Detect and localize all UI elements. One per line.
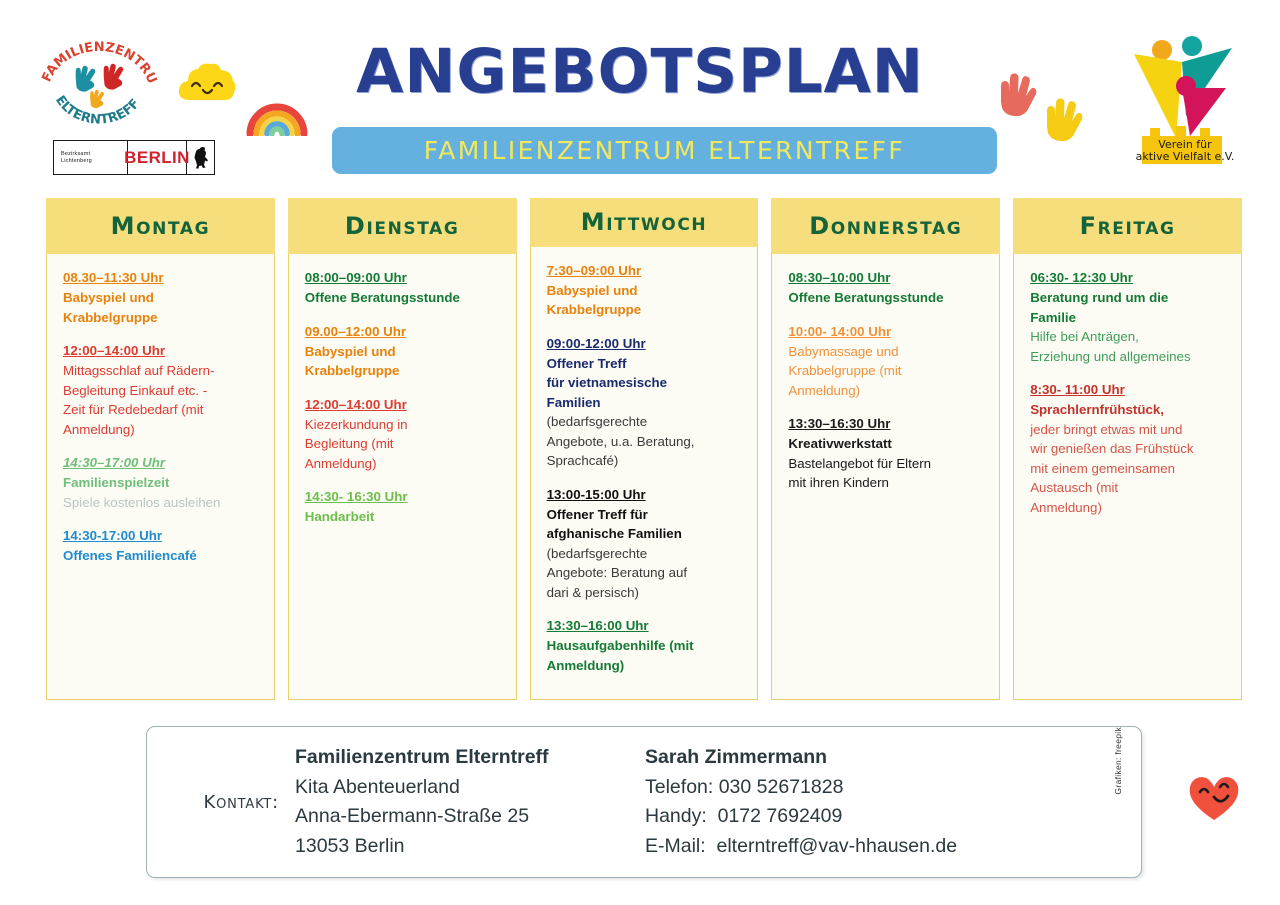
entry-title-line: Offener Treff für xyxy=(547,505,746,525)
schedule-entry: 08:00–09:00 UhrOffene Beratungsstunde xyxy=(305,268,504,308)
entry-time: 14:30- 16:30 Uhr xyxy=(305,487,408,506)
berlin-district-line1: Bezirksamt xyxy=(61,151,127,158)
day-body-mittwoch: 7:30–09:00 UhrBabyspiel undKrabbelgruppe… xyxy=(530,247,759,701)
schedule-entry: 13:30–16:30 UhrKreativwerkstattBastelang… xyxy=(788,414,987,493)
red-hand-icon xyxy=(997,72,1037,123)
day-header-mittwoch: Mittwoch xyxy=(530,198,759,247)
day-name: Dienstag xyxy=(345,212,460,240)
schedule-entry: 7:30–09:00 UhrBabyspiel undKrabbelgruppe xyxy=(547,261,746,320)
entry-title-line: Familienspielzeit xyxy=(63,473,262,493)
contact-address-column: Familienzentrum ElterntreffKita Abenteue… xyxy=(295,743,645,861)
contact-line: E-Mail: elterntreff@vav-hhausen.de xyxy=(645,832,957,862)
entry-title-line: Offene Beratungsstunde xyxy=(788,288,987,308)
entry-title-line: Offenes Familiencafé xyxy=(63,546,262,566)
day-header-montag: Montag xyxy=(46,198,275,254)
entry-time: 09.00–12:00 Uhr xyxy=(305,322,406,341)
entry-detail-line: wir genießen das Frühstück xyxy=(1030,439,1229,459)
schedule-entry: 14:30- 16:30 UhrHandarbeit xyxy=(305,487,504,527)
contact-line: Kita Abenteuerland xyxy=(295,773,645,803)
entry-title-line: für vietnamesische xyxy=(547,373,746,393)
schedule-entry: 12:00–14:00 UhrKiezerkundung inBegleitun… xyxy=(305,395,504,474)
contact-label: Kontakt: xyxy=(147,792,295,813)
page-subtitle-bar: FAMILIENZENTRUM ELTERNTREFF xyxy=(332,127,997,174)
berlin-district-line2: Lichtenberg xyxy=(61,158,127,165)
berlin-district-name: Bezirksamt Lichtenberg xyxy=(54,141,128,174)
berlin-district-badge: Bezirksamt Lichtenberg BERLIN xyxy=(53,140,215,175)
entry-time: 12:00–14:00 Uhr xyxy=(305,395,407,414)
smiling-heart-icon xyxy=(1186,770,1242,827)
entry-title-line: Babyspiel und xyxy=(63,288,262,308)
schedule-entry: 08.30–11:30 UhrBabyspiel undKrabbelgrupp… xyxy=(63,268,262,327)
schedule-entry: 13:30–16:00 UhrHausaufgabenhilfe (mitAnm… xyxy=(547,616,746,675)
entry-time: 14:30-17:00 Uhr xyxy=(63,526,162,545)
schedule-entry: 10:00- 14:00 UhrBabymassage undKrabbelgr… xyxy=(788,322,987,401)
day-header-dienstag: Dienstag xyxy=(288,198,517,254)
entry-detail-line: Begleitung Einkauf etc. - xyxy=(63,381,262,401)
entry-detail-line: Zeit für Redebedarf (mit xyxy=(63,400,262,420)
entry-title-line: Familie xyxy=(1030,308,1229,328)
entry-detail-line: Austausch (mit xyxy=(1030,478,1229,498)
vav-line2: aktive Vielfalt e.V. xyxy=(1136,150,1235,163)
verein-aktive-vielfalt-logo: Verein für aktive Vielfalt e.V. xyxy=(1120,26,1250,171)
day-body-donnerstag: 08:30–10:00 UhrOffene Beratungsstunde10:… xyxy=(771,254,1000,700)
entry-title-line: Familien xyxy=(547,393,746,413)
entry-time: 10:00- 14:00 Uhr xyxy=(788,322,891,341)
entry-detail-line: Anmeldung) xyxy=(63,420,262,440)
entry-time: 06:30- 12:30 Uhr xyxy=(1030,268,1133,287)
day-body-freitag: 06:30- 12:30 UhrBeratung rund um dieFami… xyxy=(1013,254,1242,700)
entry-time: 13:30–16:30 Uhr xyxy=(788,414,890,433)
entry-title-line: Handarbeit xyxy=(305,507,504,527)
entry-detail-line: Spiele kostenlos ausleihen xyxy=(63,493,262,513)
entry-title-line: afghanische Familien xyxy=(547,524,746,544)
page-subtitle: FAMILIENZENTRUM ELTERNTREFF xyxy=(424,136,905,165)
entry-title-line: Krabbelgruppe xyxy=(63,308,262,328)
entry-time: 8:30- 11:00 Uhr xyxy=(1030,380,1125,399)
schedule-entry: 08:30–10:00 UhrOffene Beratungsstunde xyxy=(788,268,987,308)
entry-time: 12:00–14:00 Uhr xyxy=(63,341,165,360)
entry-detail-line: mit ihren Kindern xyxy=(788,473,987,493)
entry-detail-line: (bedarfsgerechte xyxy=(547,412,746,432)
entry-detail-line: Erziehung und allgemeines xyxy=(1030,347,1229,367)
entry-detail-line: Angebote: Beratung auf xyxy=(547,563,746,583)
contact-box: Kontakt: Familienzentrum ElterntreffKita… xyxy=(146,726,1142,878)
contact-line: Anna-Ebermann-Straße 25 xyxy=(295,802,645,832)
entry-detail-line: (bedarfsgerechte xyxy=(547,544,746,564)
entry-detail-line: Bastelangebot für Eltern xyxy=(788,454,987,474)
entry-title-line: Krabbelgruppe xyxy=(547,300,746,320)
entry-detail-line: Babymassage und xyxy=(788,342,987,362)
entry-title-line: Offene Beratungsstunde xyxy=(305,288,504,308)
entry-detail-line: Anmeldung) xyxy=(1030,498,1229,518)
day-column-donnerstag: Donnerstag08:30–10:00 UhrOffene Beratung… xyxy=(771,198,1000,700)
entry-time: 08:00–09:00 Uhr xyxy=(305,268,407,287)
day-body-dienstag: 08:00–09:00 UhrOffene Beratungsstunde09.… xyxy=(288,254,517,700)
day-column-dienstag: Dienstag08:00–09:00 UhrOffene Beratungss… xyxy=(288,198,517,700)
entry-detail-line: Mittagsschlaf auf Rädern- xyxy=(63,361,262,381)
entry-time: 08.30–11:30 Uhr xyxy=(63,268,164,287)
entry-detail-line: Anmeldung) xyxy=(788,381,987,401)
entry-title-line: Offener Treff xyxy=(547,354,746,374)
day-column-mittwoch: Mittwoch7:30–09:00 UhrBabyspiel undKrabb… xyxy=(530,198,759,700)
entry-time: 08:30–10:00 Uhr xyxy=(788,268,890,287)
entry-detail-line: Hilfe bei Anträgen, xyxy=(1030,327,1229,347)
contact-line: Sarah Zimmermann xyxy=(645,743,957,773)
entry-title-line: Babyspiel und xyxy=(547,281,746,301)
yellow-hand-icon xyxy=(1043,97,1083,148)
entry-title-line: Sprachlernfrühstück, xyxy=(1030,400,1229,420)
entry-title-line: Babyspiel und xyxy=(305,342,504,362)
entry-detail-line: mit einem gemeinsamen xyxy=(1030,459,1229,479)
entry-detail-line: Krabbelgruppe (mit xyxy=(788,361,987,381)
entry-time: 14:30–17:00 Uhr xyxy=(63,453,165,472)
schedule-entry: 14:30–17:00 UhrFamilienspielzeitSpiele k… xyxy=(63,453,262,512)
contact-line: Telefon: 030 52671828 xyxy=(645,773,957,803)
entry-detail-line: jeder bringt etwas mit und xyxy=(1030,420,1229,440)
schedule-entry: 09:00-12:00 UhrOffener Trefffür vietname… xyxy=(547,334,746,471)
entry-title-line: Hausaufgabenhilfe (mit xyxy=(547,636,746,656)
entry-time: 7:30–09:00 Uhr xyxy=(547,261,642,280)
entry-detail-line: Angebote, u.a. Beratung, xyxy=(547,432,746,452)
contact-person-column: Sarah ZimmermannTelefon: 030 52671828Han… xyxy=(645,743,957,861)
contact-line: 13053 Berlin xyxy=(295,832,645,862)
schedule-entry: 12:00–14:00 UhrMittagsschlaf auf Rädern-… xyxy=(63,341,262,439)
entry-title-line: Anmeldung) xyxy=(547,656,746,676)
entry-detail-line: Kiezerkundung in xyxy=(305,415,504,435)
weekly-schedule-grid: Montag08.30–11:30 UhrBabyspiel undKrabbe… xyxy=(46,198,1242,700)
entry-detail-line: Begleitung (mit xyxy=(305,434,504,454)
schedule-entry: 06:30- 12:30 UhrBeratung rund um dieFami… xyxy=(1030,268,1229,366)
contact-line: Handy: 0172 7692409 xyxy=(645,802,957,832)
entry-time: 13:30–16:00 Uhr xyxy=(547,616,649,635)
day-body-montag: 08.30–11:30 UhrBabyspiel undKrabbelgrupp… xyxy=(46,254,275,700)
entry-detail-line: dari & persisch) xyxy=(547,583,746,603)
schedule-entry: 09.00–12:00 UhrBabyspiel undKrabbelgrupp… xyxy=(305,322,504,381)
day-column-montag: Montag08.30–11:30 UhrBabyspiel undKrabbe… xyxy=(46,198,275,700)
graphics-credit: Grafiken: freepik xyxy=(1113,727,1123,794)
day-name: Montag xyxy=(111,212,211,240)
schedule-entry: 13:00-15:00 UhrOffener Treff fürafghanis… xyxy=(547,485,746,603)
berlin-bear-icon xyxy=(187,141,214,174)
berlin-wordmark: BERLIN xyxy=(128,141,187,174)
entry-title-line: Krabbelgruppe xyxy=(305,361,504,381)
day-name: Freitag xyxy=(1080,212,1176,240)
contact-line: Familienzentrum Elterntreff xyxy=(295,743,645,773)
page-header: FAMILIENZENTRUM ELTERNTREFF Bezirksamt L… xyxy=(0,0,1280,190)
entry-detail-line: Sprachcafé) xyxy=(547,451,746,471)
day-name: Mittwoch xyxy=(581,208,708,236)
day-name: Donnerstag xyxy=(809,212,962,240)
day-column-freitag: Freitag06:30- 12:30 UhrBeratung rund um … xyxy=(1013,198,1242,700)
entry-title-line: Kreativwerkstatt xyxy=(788,434,987,454)
entry-time: 09:00-12:00 Uhr xyxy=(547,334,646,353)
schedule-entry: 8:30- 11:00 UhrSprachlernfrühstück,jeder… xyxy=(1030,380,1229,517)
day-header-donnerstag: Donnerstag xyxy=(771,198,1000,254)
schedule-entry: 14:30-17:00 UhrOffenes Familiencafé xyxy=(63,526,262,566)
day-header-freitag: Freitag xyxy=(1013,198,1242,254)
page-title: ANGEBOTSPLAN xyxy=(0,36,1280,107)
entry-detail-line: Anmeldung) xyxy=(305,454,504,474)
entry-title-line: Beratung rund um die xyxy=(1030,288,1229,308)
entry-time: 13:00-15:00 Uhr xyxy=(547,485,646,504)
